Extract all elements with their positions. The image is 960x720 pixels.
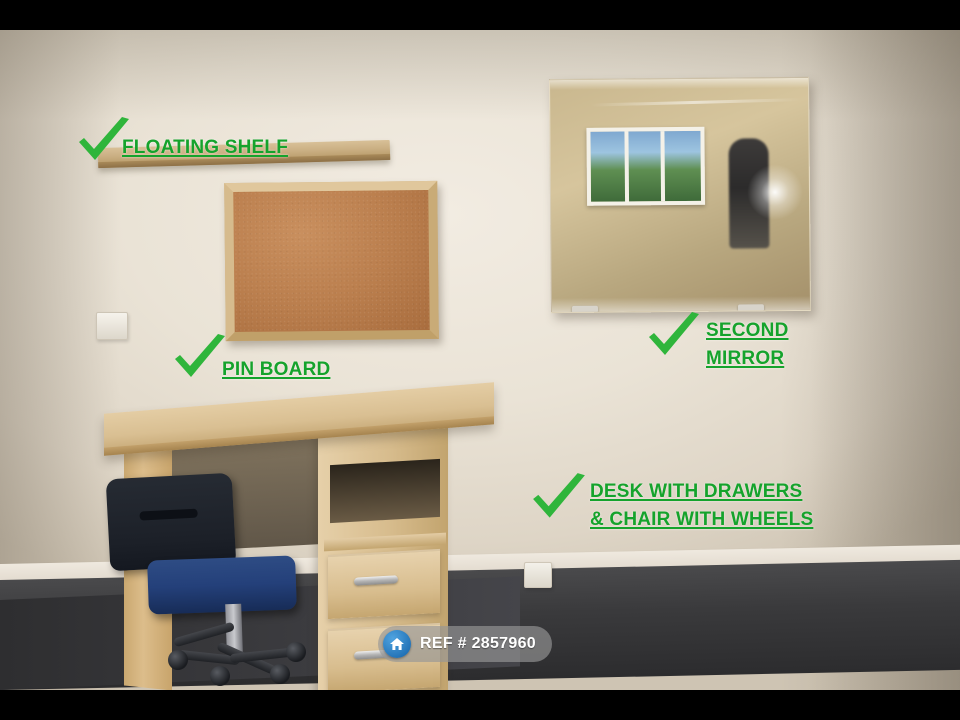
- home-icon: [383, 630, 411, 658]
- pin-board-cork-texture: [233, 190, 429, 332]
- checkmark-icon-second-mirror: [646, 311, 702, 361]
- chair-backrest-slot: [139, 509, 197, 521]
- callout-pin-board: PIN BOARD: [222, 358, 330, 382]
- callout-desk-line1: DESK WITH DRAWERS: [590, 480, 802, 504]
- callout-second-mirror-line2: MIRROR: [706, 347, 784, 371]
- drawer-handle-top: [354, 575, 398, 585]
- chair-wheel-3: [270, 664, 290, 684]
- checkmark-icon-desk-and-chair: [530, 472, 588, 524]
- callout-floating-shelf: FLOATING SHELF: [122, 136, 288, 160]
- pin-board: [224, 181, 439, 341]
- letterbox-bar-top: [0, 0, 960, 30]
- mirror-clip-left: [572, 306, 598, 313]
- chair-base: [174, 636, 304, 676]
- wall-socket-right: [524, 562, 552, 588]
- callout-desk-line2: & CHAIR WITH WHEELS: [590, 508, 813, 532]
- chair-backrest: [106, 473, 237, 571]
- checkmark-icon-pin-board: [172, 333, 228, 383]
- desk-drawer-top: [328, 549, 440, 619]
- chair-wheel-2: [210, 666, 230, 686]
- reference-badge: REF # 2857960: [378, 626, 552, 662]
- chair-seat: [147, 555, 297, 614]
- mirror-reflected-window-picture: [586, 127, 705, 206]
- letterbox-bar-bottom: [0, 690, 960, 720]
- wall-socket-left: [96, 312, 128, 340]
- desk-open-shelf-nook: [330, 459, 440, 523]
- callout-second-mirror-line1: SECOND: [706, 319, 789, 343]
- reference-number-text: REF # 2857960: [420, 635, 536, 653]
- mirror-top-bevel: [550, 78, 808, 90]
- chair-wheel-1: [168, 650, 188, 670]
- mirror-camera-flash-flare: [747, 164, 803, 220]
- property-photo: FLOATING SHELF PIN BOARD SECOND MIRROR D…: [0, 30, 960, 690]
- second-mirror: [549, 77, 811, 313]
- pin-board-cork-surface: [233, 190, 429, 332]
- screenshot-root: FLOATING SHELF PIN BOARD SECOND MIRROR D…: [0, 0, 960, 720]
- mirror-highlight-streak: [590, 98, 800, 106]
- chair-wheel-4: [286, 642, 306, 662]
